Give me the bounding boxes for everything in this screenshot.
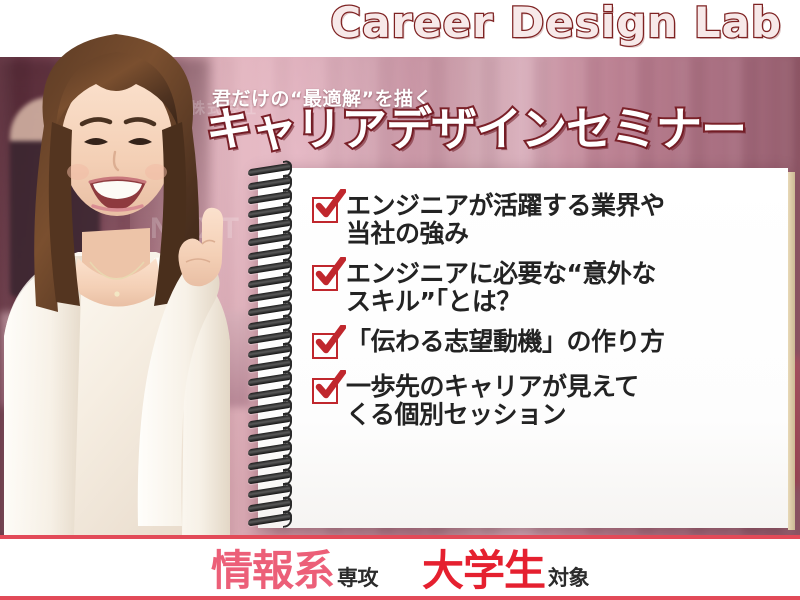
seminar-topic-item: エンジニアに必要な“意外なスキル”「とは？ xyxy=(312,260,782,316)
headline-title: キャリアデザインセミナー xyxy=(206,105,746,153)
seminar-topic-line: 一歩先のキャリアが見えて xyxy=(346,373,639,401)
seminar-topic-line: 「伝わる志望動機」の作り方 xyxy=(346,328,665,356)
seminar-topic-text: エンジニアに必要な“意外なスキル”「とは？ xyxy=(346,260,656,316)
target-audience-major: 大学生 xyxy=(422,537,545,598)
brand-title: Career Design Lab xyxy=(330,0,782,47)
checkbox-checked-icon[interactable] xyxy=(312,376,342,406)
seminar-topic-line: スキル”「とは？ xyxy=(346,288,656,316)
check-mark-icon xyxy=(314,257,346,289)
seminar-topic-text: 「伝わる志望動機」の作り方 xyxy=(346,328,665,356)
seminar-topic-line: くる個別セッション xyxy=(346,401,639,429)
check-mark-icon xyxy=(314,370,346,402)
target-audience-suffix: 専攻 xyxy=(337,562,378,592)
poster-canvas: 株式会社 NEXT 君だけの“最適解”を描く キャリアデザインセミナー エンジニ… xyxy=(0,0,800,600)
checkbox-checked-icon[interactable] xyxy=(312,263,342,293)
target-audience-major: 情報系 xyxy=(211,537,334,598)
seminar-topic-item: エンジニアが活躍する業界や当社の強み xyxy=(312,192,782,248)
checkbox-checked-icon[interactable] xyxy=(312,331,342,361)
target-audience-group: 大学生対象 xyxy=(422,537,589,598)
background-necktie xyxy=(48,162,56,208)
seminar-topic-list: エンジニアが活躍する業界や当社の強みエンジニアに必要な“意外なスキル”「とは？「… xyxy=(312,192,782,441)
seminar-topic-line: エンジニアが活躍する業界や xyxy=(346,192,665,220)
seminar-topic-item: 「伝わる志望動機」の作り方 xyxy=(312,328,782,361)
target-audience-group: 情報系専攻 xyxy=(211,537,378,598)
target-audience-bar: 情報系専攻大学生対象 xyxy=(0,535,800,600)
seminar-topic-text: 一歩先のキャリアが見えてくる個別セッション xyxy=(346,373,639,429)
check-mark-icon xyxy=(314,189,346,221)
target-audience-suffix: 対象 xyxy=(548,562,589,592)
background-ghost-text-2: NEXT xyxy=(150,212,242,246)
seminar-topic-line: 当社の強み xyxy=(346,220,665,248)
seminar-topic-line: エンジニアに必要な“意外な xyxy=(346,260,656,288)
checkbox-checked-icon[interactable] xyxy=(312,195,342,225)
check-mark-icon xyxy=(314,325,346,357)
seminar-topic-item: 一歩先のキャリアが見えてくる個別セッション xyxy=(312,373,782,429)
notepad-page-edge xyxy=(788,172,795,530)
seminar-topic-text: エンジニアが活躍する業界や当社の強み xyxy=(346,192,665,248)
